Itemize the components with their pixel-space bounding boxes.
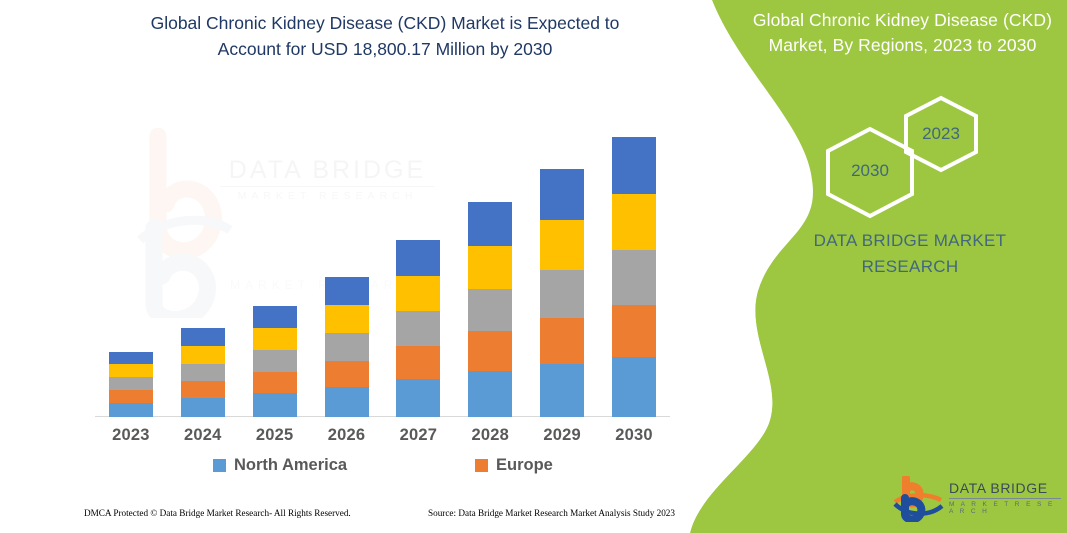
bar-segment: [109, 364, 153, 377]
x-axis-label: 2023: [95, 426, 167, 445]
page-title: Global Chronic Kidney Disease (CKD) Mark…: [120, 10, 650, 63]
bar-segment: [540, 270, 584, 318]
bar-segment: [468, 289, 512, 331]
bar-segment: [253, 328, 297, 350]
bar-segment: [181, 364, 225, 381]
bar-segment: [325, 305, 369, 333]
bar-segment: [109, 403, 153, 417]
legend-item[interactable]: North America: [213, 456, 347, 475]
hexagon-2023: 2023: [900, 95, 982, 173]
bar-segment: [181, 328, 225, 346]
x-axis-label: 2029: [526, 426, 598, 445]
x-axis-labels: 20232024202520262027202820292030: [95, 426, 670, 450]
legend-swatch-icon: [475, 459, 488, 472]
bar-column: [468, 202, 512, 417]
x-axis-label: 2026: [311, 426, 383, 445]
chart-legend: North AmericaEurope: [95, 456, 670, 480]
legend-label: Europe: [496, 456, 553, 475]
bar-segment: [612, 357, 656, 417]
bar-segment: [468, 331, 512, 371]
bar-column: [612, 137, 656, 417]
x-axis-label: 2027: [382, 426, 454, 445]
bar-segment: [540, 364, 584, 417]
panel-heading: Global Chronic Kidney Disease (CKD) Mark…: [745, 8, 1060, 59]
brand-logo: DATA BRIDGE M A R K E T R E S E A R C H: [893, 474, 1063, 524]
bar-segment: [468, 202, 512, 246]
bar-segment: [253, 393, 297, 417]
bar-segment: [612, 305, 656, 357]
bar-segment: [181, 346, 225, 364]
legend-item[interactable]: Europe: [475, 456, 553, 475]
bar-segment: [468, 246, 512, 289]
bar-segment: [253, 350, 297, 372]
brand-logo-mark-icon: [893, 476, 945, 522]
bar-segment: [325, 361, 369, 387]
bar-segment: [325, 333, 369, 361]
bar-column: [540, 169, 584, 417]
bar-column: [325, 277, 369, 417]
legend-swatch-icon: [213, 459, 226, 472]
bar-chart-plot: [95, 100, 670, 417]
bar-segment: [396, 379, 440, 417]
bar-segment: [396, 240, 440, 276]
bar-column: [109, 352, 153, 417]
bar-segment: [612, 194, 656, 250]
bar-column: [181, 328, 225, 417]
brand-logo-subtitle: M A R K E T R E S E A R C H: [949, 501, 1064, 515]
bar-column: [396, 240, 440, 417]
bar-segment: [253, 372, 297, 393]
bar-segment: [253, 306, 297, 328]
brand-logo-divider: [949, 498, 1061, 499]
x-axis-label: 2024: [167, 426, 239, 445]
bar-segment: [181, 381, 225, 398]
bar-segment: [396, 276, 440, 311]
panel-brand-line1: DATA BRIDGE MARKET: [770, 228, 1050, 254]
x-axis-label: 2028: [454, 426, 526, 445]
bar-segment: [325, 387, 369, 417]
bar-segment: [396, 346, 440, 379]
bar-segment: [325, 277, 369, 305]
brand-logo-title: DATA BRIDGE: [949, 480, 1064, 496]
bar-segment: [468, 371, 512, 417]
infographic-canvas: Global Chronic Kidney Disease (CKD) Mark…: [0, 0, 1067, 533]
panel-brand: DATA BRIDGE MARKET RESEARCH: [770, 228, 1050, 281]
bar-segment: [396, 311, 440, 346]
footer-source: Source: Data Bridge Market Research Mark…: [428, 508, 675, 518]
bar-segment: [181, 398, 225, 417]
footer-copyright: DMCA Protected © Data Bridge Market Rese…: [84, 508, 351, 518]
bar-column: [253, 306, 297, 417]
bar-segment: [109, 377, 153, 390]
bar-segment: [540, 318, 584, 364]
bar-segment: [109, 390, 153, 403]
bar-segment: [540, 169, 584, 220]
x-axis-label: 2025: [239, 426, 311, 445]
hexagon-2023-label: 2023: [900, 124, 982, 144]
bar-segment: [109, 352, 153, 364]
panel-brand-line2: RESEARCH: [770, 254, 1050, 280]
bar-segment: [540, 220, 584, 270]
x-axis-label: 2030: [598, 426, 670, 445]
bar-segment: [612, 137, 656, 194]
bar-segment: [612, 250, 656, 305]
legend-label: North America: [234, 456, 347, 475]
hexagon-group: 2030 2023: [810, 95, 1010, 205]
